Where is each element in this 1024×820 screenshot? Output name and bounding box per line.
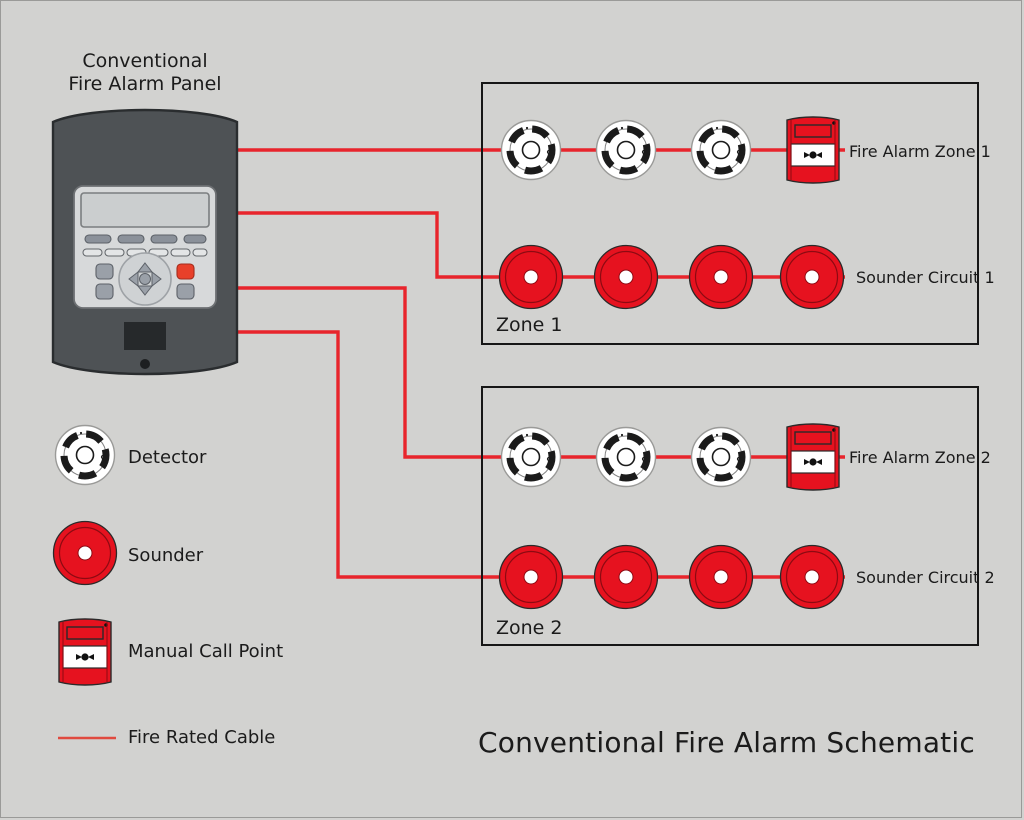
zone-2-sounder-1[interactable] — [498, 544, 564, 614]
zone-2-manual-call-point[interactable] — [782, 421, 844, 497]
zone-2-detector-1[interactable] — [500, 426, 562, 492]
zone-1-detector-3[interactable] — [690, 119, 752, 185]
zone-1-sounder-3[interactable] — [688, 244, 754, 314]
legend-label-fire-rated-cable: Fire Rated Cable — [128, 727, 275, 748]
zone-1-sounder-2[interactable] — [593, 244, 659, 314]
fire-alarm-panel[interactable] — [50, 104, 240, 380]
legend-sounder-icon — [52, 520, 118, 590]
zone-1-sounder-1[interactable] — [498, 244, 564, 314]
zone-2-detector-2[interactable] — [595, 426, 657, 492]
zone-2-detector-3[interactable] — [690, 426, 752, 492]
legend-label-sounder: Sounder — [128, 545, 203, 566]
zone-2-sounder-2[interactable] — [593, 544, 659, 614]
zone-2-sounder-4[interactable] — [779, 544, 845, 614]
panel-badge-plate — [124, 322, 166, 350]
zone-1-detector-1[interactable] — [500, 119, 562, 185]
panel-button-left-bottom — [96, 284, 113, 299]
legend-label-manual-call-point: Manual Call Point — [128, 641, 283, 662]
legend-detector-icon — [54, 424, 116, 490]
zone-1-sounder-circuit-label: Sounder Circuit 1 — [856, 268, 995, 287]
zone-1-tag: Zone 1 — [496, 314, 563, 336]
zone-1-manual-call-point[interactable] — [782, 114, 844, 190]
zone-1-sounder-4[interactable] — [779, 244, 845, 314]
panel-navpad-center — [140, 274, 151, 285]
zone-1-detector-2[interactable] — [595, 119, 657, 185]
panel-button-left-top — [96, 264, 113, 279]
panel-lcd-display — [81, 193, 209, 227]
diagram-title: Conventional Fire Alarm Schematic — [478, 726, 998, 759]
panel-button-alarm — [177, 264, 194, 279]
panel-button-right-bottom — [177, 284, 194, 299]
zone-2-sounder-circuit-label: Sounder Circuit 2 — [856, 568, 995, 587]
zone-2-tag: Zone 2 — [496, 617, 563, 639]
page-title: Conventional Fire Alarm Panel — [40, 50, 250, 96]
panel-status-led — [140, 359, 150, 369]
schematic-canvas: Conventional Fire Alarm Panel — [0, 0, 1024, 820]
legend-manual-call-point-icon — [54, 616, 116, 692]
legend-label-detector: Detector — [128, 447, 206, 468]
legend-cable-line-icon — [56, 730, 118, 750]
zone-2-sounder-3[interactable] — [688, 544, 754, 614]
zone-1-alarm-circuit-label: Fire Alarm Zone 1 — [849, 142, 991, 161]
zone-2-alarm-circuit-label: Fire Alarm Zone 2 — [849, 448, 991, 467]
